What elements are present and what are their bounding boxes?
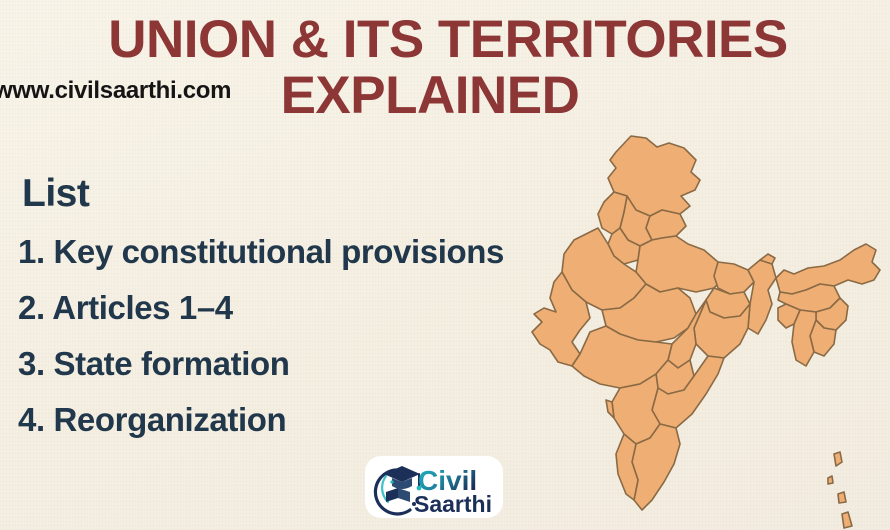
island-andaman-south (838, 492, 846, 503)
list-item: 1. Key constitutional provisions (18, 224, 504, 280)
poster-canvas: UNION & ITS TERRITORIES EXPLAINED www.ci… (0, 0, 890, 530)
title-line-primary: UNION & ITS TERRITORIES (6, 12, 890, 68)
logo-word-saarthi: Saarthi (414, 491, 492, 517)
island-nicobar (842, 512, 852, 528)
state-uttar-pradesh (636, 236, 726, 292)
island-andaman-mid (828, 476, 833, 484)
india-map (528, 122, 890, 530)
state-uttarakhand (646, 210, 686, 240)
island-andaman-north (834, 452, 842, 466)
brand-logo[interactable]: Civil Saarthi (362, 452, 506, 524)
page-title: UNION & ITS TERRITORIES EXPLAINED (0, 12, 890, 124)
brand-logo-svg: Civil Saarthi (362, 452, 506, 524)
state-goa (606, 400, 614, 418)
india-map-svg (528, 122, 890, 530)
list-item: 2. Articles 1–4 (18, 280, 504, 336)
list-heading: List (22, 172, 504, 216)
website-url-watermark: www.civilsaarthi.com (0, 78, 231, 104)
state-bihar (714, 262, 754, 294)
list-items: 1. Key constitutional provisions 2. Arti… (18, 224, 504, 448)
state-west-bengal (748, 260, 776, 334)
list-item: 3. State formation (18, 336, 504, 392)
india-map-states (532, 136, 880, 528)
list-section: List 1. Key constitutional provisions 2.… (18, 172, 504, 448)
logo-dot-accent-1 (390, 480, 393, 483)
list-item: 4. Reorganization (18, 392, 504, 448)
